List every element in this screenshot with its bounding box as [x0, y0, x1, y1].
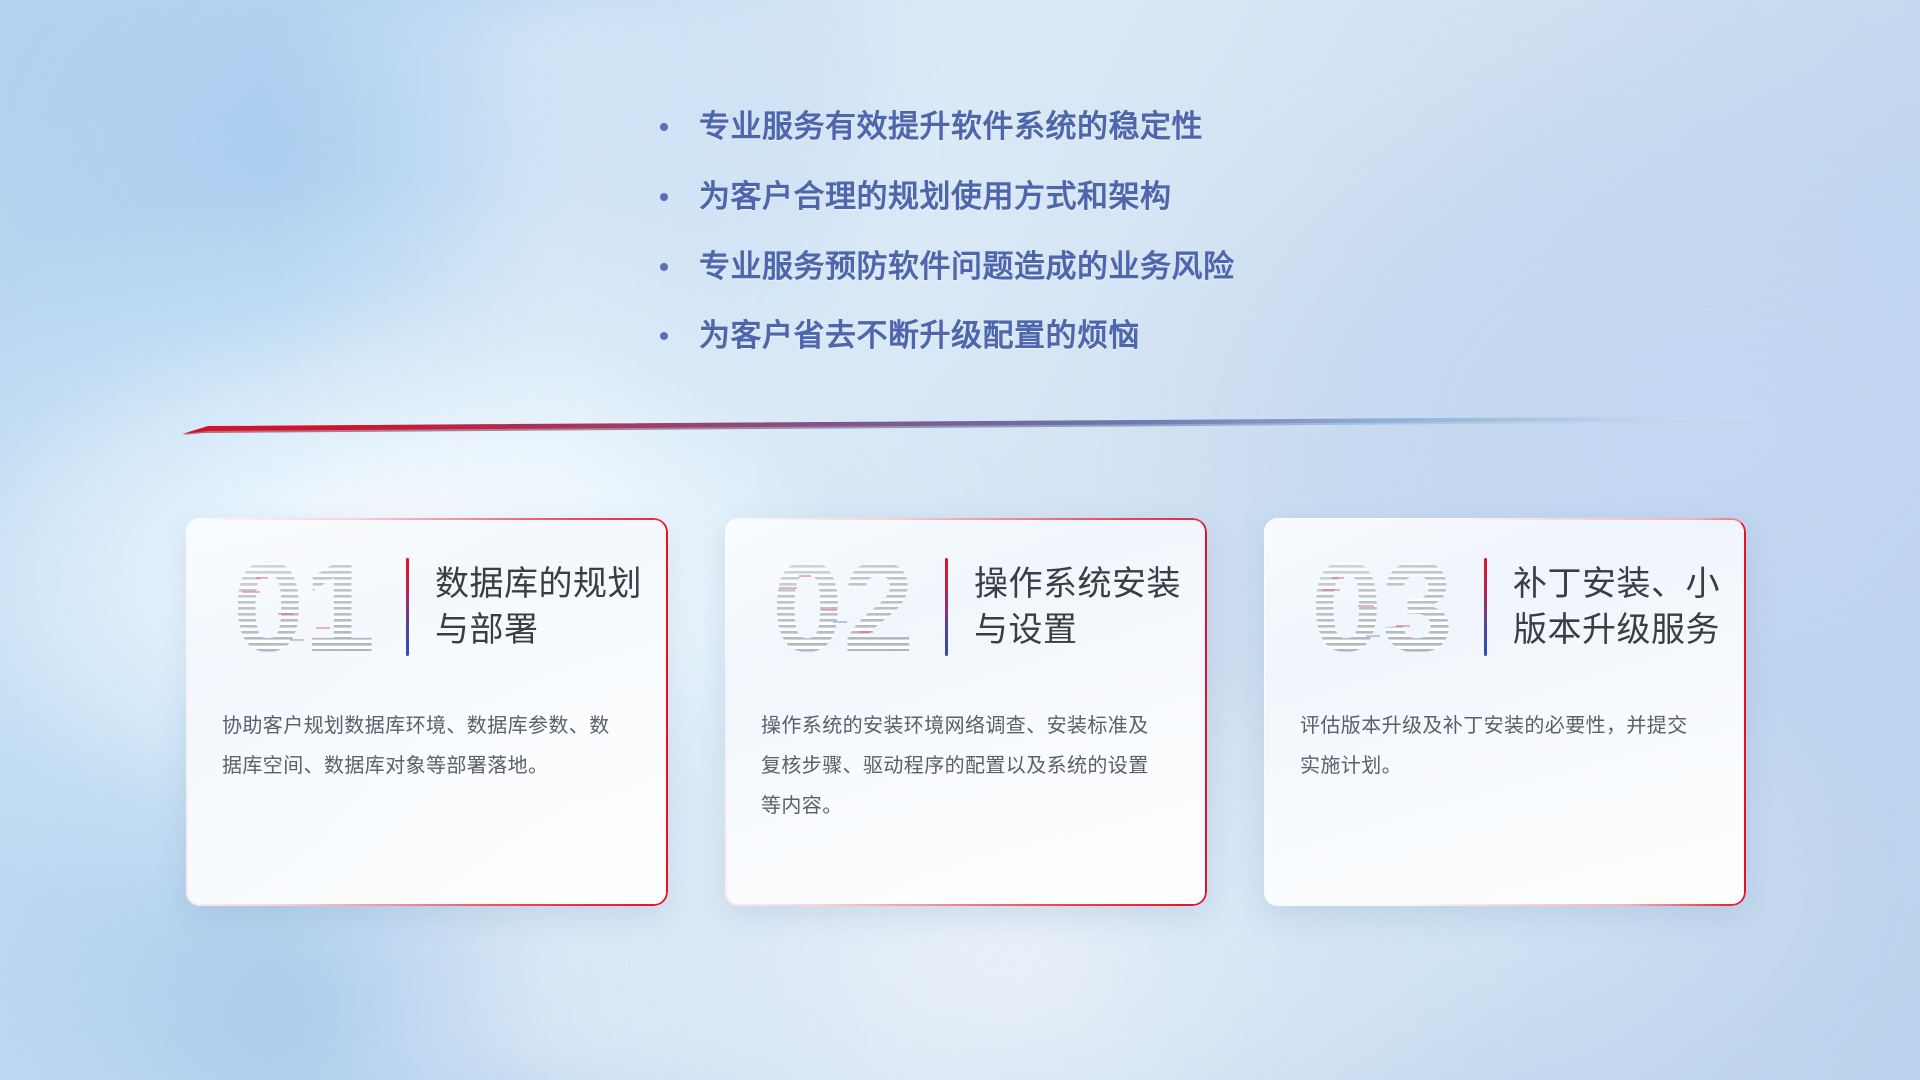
card-title-accent-rule — [406, 558, 409, 656]
card-number-watermark: 01 — [220, 547, 388, 667]
card-body-text: 评估版本升级及补丁安装的必要性，并提交实施计划。 — [1264, 706, 1746, 786]
card-title: 补丁安装、小 版本升级服务 — [1513, 561, 1720, 653]
benefit-bullet-list: 专业服务有效提升软件系统的稳定性 为客户合理的规划使用方式和架构 专业服务预防软… — [660, 108, 1440, 387]
bullet-dot-icon — [660, 123, 668, 131]
card-title-accent-rule — [945, 558, 948, 656]
bullet-dot-icon — [660, 332, 668, 340]
service-card[interactable]: 02 操作系统安装 与设置 操作系统的安装环境网络调查、安装标准及复核步骤、驱动… — [725, 518, 1207, 906]
bullet-text: 为客户合理的规划使用方式和架构 — [699, 178, 1172, 217]
bullet-item: 为客户合理的规划使用方式和架构 — [660, 178, 1440, 217]
service-card[interactable]: 01 数据库的规划 与部署 协助客户规划数据库环境、数据库参数、数据库空间、数据… — [186, 518, 668, 906]
card-title: 数据库的规划 与部署 — [435, 561, 642, 653]
card-body-text: 操作系统的安装环境网络调查、安装标准及复核步骤、驱动程序的配置以及系统的设置等内… — [725, 706, 1207, 826]
service-card-list: 01 数据库的规划 与部署 协助客户规划数据库环境、数据库参数、数据库空间、数据… — [186, 518, 1746, 906]
bullet-item: 专业服务预防软件问题造成的业务风险 — [660, 248, 1440, 287]
gradient-divider-bar — [182, 416, 1752, 438]
card-header: 03 补丁安装、小 版本升级服务 — [1264, 518, 1746, 696]
card-header: 02 操作系统安装 与设置 — [725, 518, 1207, 696]
bullet-item: 为客户省去不断升级配置的烦恼 — [660, 317, 1440, 356]
card-body-text: 协助客户规划数据库环境、数据库参数、数据库空间、数据库对象等部署落地。 — [186, 706, 668, 786]
service-card[interactable]: 03 补丁安装、小 版本升级服务 评估版本升级及补丁安装的必要性，并提交实施计划… — [1264, 518, 1746, 906]
card-title-accent-rule — [1484, 558, 1487, 656]
bullet-text: 为客户省去不断升级配置的烦恼 — [699, 317, 1140, 356]
card-number-watermark: 02 — [759, 547, 927, 667]
card-number-glyph: 01 — [233, 547, 375, 667]
card-header: 01 数据库的规划 与部署 — [186, 518, 668, 696]
card-number-watermark: 03 — [1298, 547, 1466, 667]
bullet-dot-icon — [660, 193, 668, 201]
bullet-item: 专业服务有效提升软件系统的稳定性 — [660, 108, 1440, 147]
bullet-text: 专业服务有效提升软件系统的稳定性 — [699, 108, 1203, 147]
bullet-dot-icon — [660, 263, 668, 271]
card-title: 操作系统安装 与设置 — [974, 561, 1181, 653]
card-number-glyph: 02 — [772, 547, 914, 667]
bullet-text: 专业服务预防软件问题造成的业务风险 — [699, 248, 1235, 287]
card-number-glyph: 03 — [1311, 547, 1453, 667]
